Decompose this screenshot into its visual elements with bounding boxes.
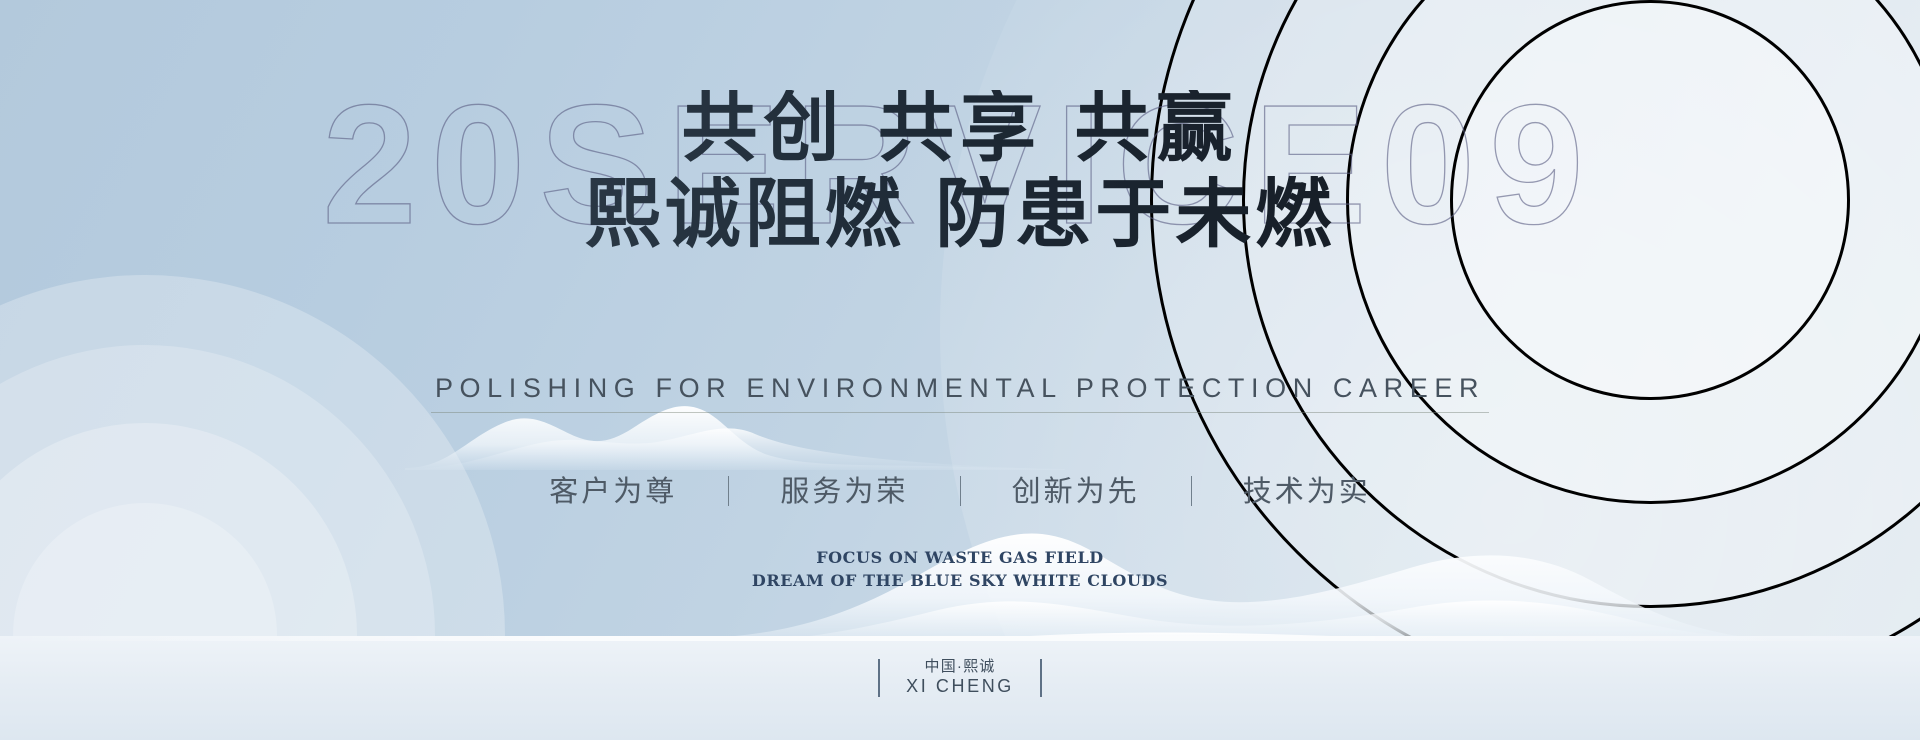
brand-logo: 中国·熙诚 XI CHENG — [0, 658, 1920, 698]
logo-right-bar-icon — [1040, 659, 1042, 697]
banner-canvas: 20SERVICE09 — [0, 0, 1920, 740]
headline-line-2: 熙诚阻燃 防患于未燃 — [0, 176, 1920, 252]
logo-chinese-name: 中国·熙诚 — [906, 658, 1014, 676]
value-divider — [1191, 476, 1192, 506]
strapline-text: POLISHING FOR ENVIRONMENTAL PROTECTION C… — [431, 373, 1489, 413]
strapline: POLISHING FOR ENVIRONMENTAL PROTECTION C… — [0, 373, 1920, 413]
couplet-line-1: FOCUS ON WASTE GAS FIELD — [0, 547, 1920, 570]
value-item-2: 服务为荣 — [780, 468, 908, 510]
value-item-1: 客户为尊 — [549, 468, 677, 510]
value-divider — [728, 476, 729, 506]
headline-line-1: 共创 共享 共赢 — [0, 90, 1920, 166]
logo-text-block: 中国·熙诚 XI CHENG — [906, 658, 1014, 698]
ground-highlight — [0, 636, 1920, 641]
headline-group: 共创 共享 共赢 熙诚阻燃 防患于未燃 — [0, 90, 1920, 252]
value-divider — [960, 476, 961, 506]
couplet-group: FOCUS ON WASTE GAS FIELD DREAM OF THE BL… — [0, 547, 1920, 592]
logo-english-name: XI CHENG — [906, 676, 1014, 698]
couplet-line-2: DREAM OF THE BLUE SKY WHITE CLOUDS — [0, 570, 1920, 593]
value-item-4: 技术为实 — [1243, 468, 1371, 510]
logo-left-bar-icon — [878, 659, 880, 697]
values-row: 客户为尊 服务为荣 创新为先 技术为实 — [0, 468, 1920, 510]
value-item-3: 创新为先 — [1012, 468, 1140, 510]
